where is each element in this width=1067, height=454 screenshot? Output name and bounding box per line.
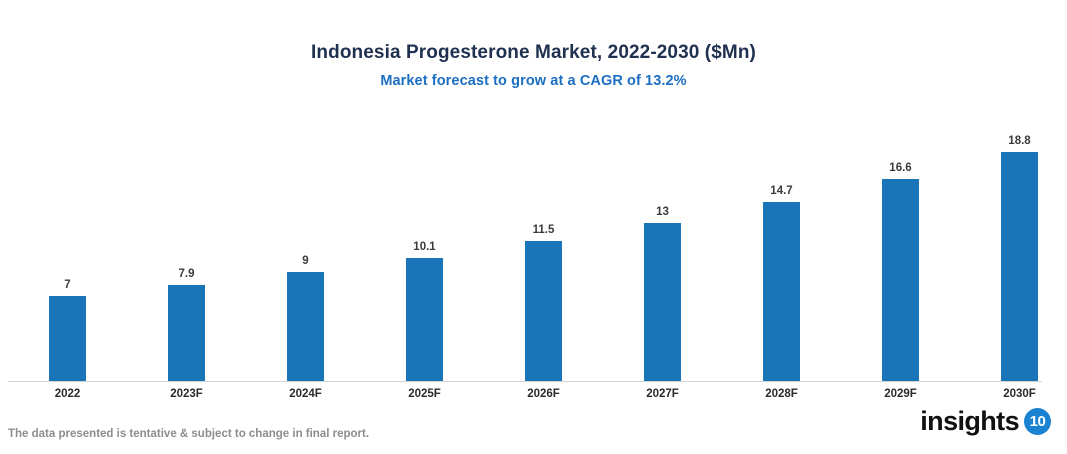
bar[interactable] xyxy=(763,202,800,382)
plot-area: 77.9910.111.51314.716.618.8 xyxy=(8,110,1042,382)
bar-value-label: 14.7 xyxy=(722,185,841,197)
insights10-logo: insights 10 xyxy=(920,408,1051,435)
chart-canvas: Indonesia Progesterone Market, 2022-2030… xyxy=(0,0,1067,454)
bar-value-label: 7.9 xyxy=(127,268,246,280)
bar-group: 10.1 xyxy=(365,110,484,382)
bar[interactable] xyxy=(644,223,681,382)
x-tick-2026F: 2026F xyxy=(484,388,603,400)
bar-group: 7.9 xyxy=(127,110,246,382)
x-tick-2030F: 2030F xyxy=(960,388,1067,400)
bar-value-label: 10.1 xyxy=(365,241,484,253)
bar-group: 9 xyxy=(246,110,365,382)
bar[interactable] xyxy=(525,241,562,382)
bar-value-label: 7 xyxy=(8,279,127,291)
x-tick-2029F: 2029F xyxy=(841,388,960,400)
x-tick-2022: 2022 xyxy=(8,388,127,400)
bar-group: 7 xyxy=(8,110,127,382)
logo-wordmark: insights xyxy=(920,408,1019,435)
x-tick-2023F: 2023F xyxy=(127,388,246,400)
x-tick-2028F: 2028F xyxy=(722,388,841,400)
bar-value-label: 11.5 xyxy=(484,224,603,236)
bar-value-label: 9 xyxy=(246,255,365,267)
bar[interactable] xyxy=(168,285,205,382)
bar[interactable] xyxy=(882,179,919,382)
bar-group: 14.7 xyxy=(722,110,841,382)
bar[interactable] xyxy=(406,258,443,382)
x-tick-2027F: 2027F xyxy=(603,388,722,400)
bar-value-label: 13 xyxy=(603,206,722,218)
x-tick-2024F: 2024F xyxy=(246,388,365,400)
bar-value-label: 16.6 xyxy=(841,162,960,174)
bar[interactable] xyxy=(49,296,86,382)
bar[interactable] xyxy=(1001,152,1038,382)
chart-title: Indonesia Progesterone Market, 2022-2030… xyxy=(0,42,1067,64)
bar[interactable] xyxy=(287,272,324,382)
bar-value-label: 18.8 xyxy=(960,135,1067,147)
bar-group: 18.8 xyxy=(960,110,1067,382)
disclaimer-text: The data presented is tentative & subjec… xyxy=(8,428,369,440)
bar-group: 11.5 xyxy=(484,110,603,382)
bar-group: 13 xyxy=(603,110,722,382)
chart-subtitle: Market forecast to grow at a CAGR of 13.… xyxy=(0,73,1067,89)
logo-badge-icon: 10 xyxy=(1024,408,1051,435)
x-axis-line xyxy=(8,381,1042,382)
x-tick-2025F: 2025F xyxy=(365,388,484,400)
bar-group: 16.6 xyxy=(841,110,960,382)
